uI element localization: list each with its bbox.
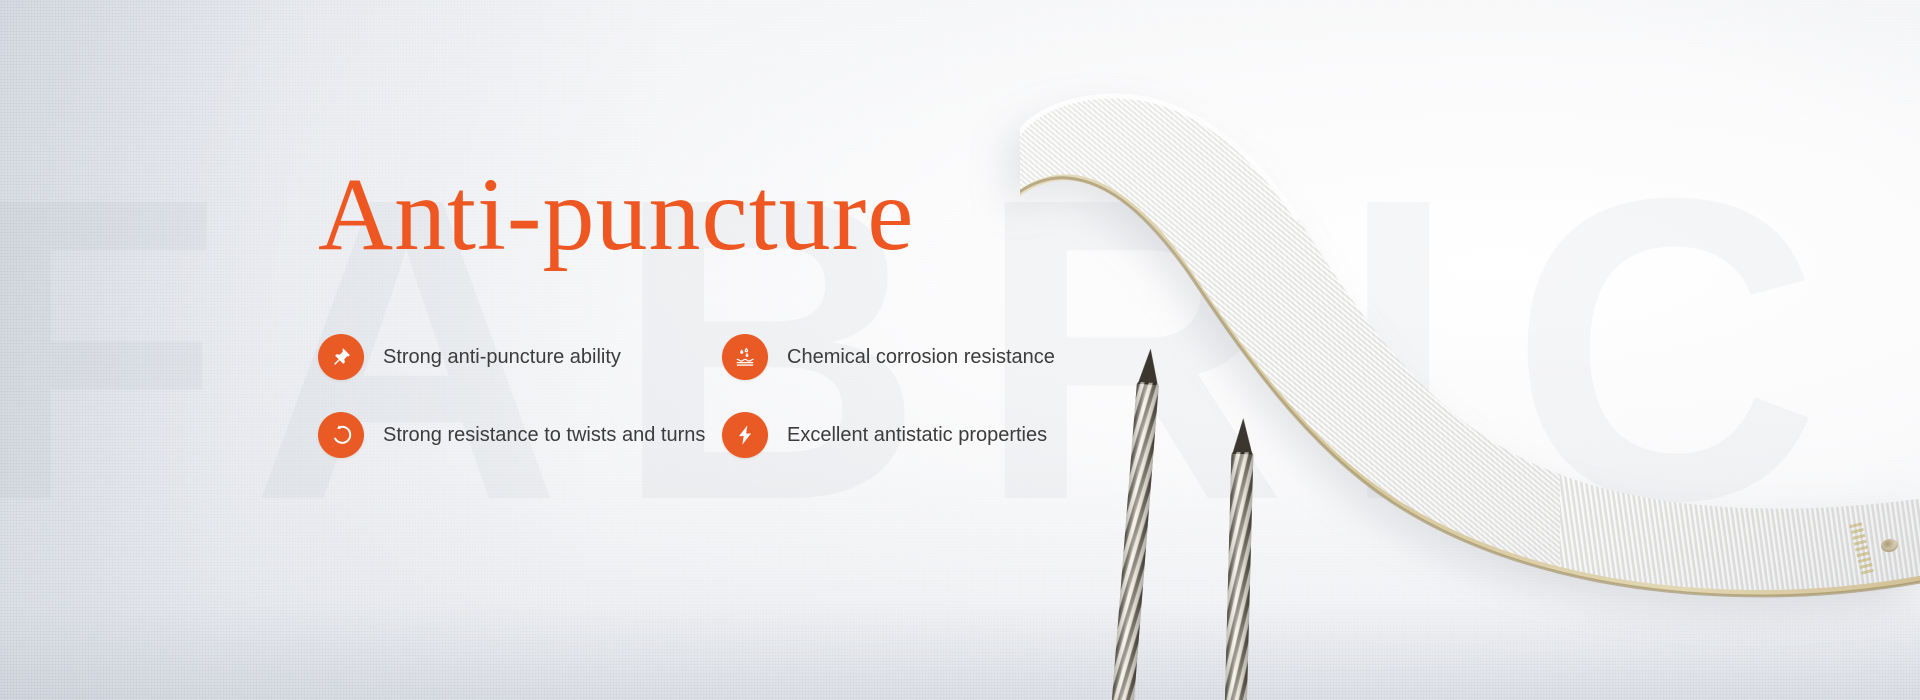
water-drop-surface-icon [722, 334, 768, 380]
feature-list: Strong anti-puncture ability [318, 334, 1148, 458]
page-title: Anti-puncture [318, 162, 1148, 268]
feature-item-chemical-corrosion[interactable]: Chemical corrosion resistance [722, 334, 1126, 380]
feature-label: Chemical corrosion resistance [787, 345, 1055, 370]
content-block: Anti-puncture Strong anti-puncture abili… [318, 162, 1148, 458]
feature-item-anti-puncture[interactable]: Strong anti-puncture ability [318, 334, 722, 380]
feature-label: Strong anti-puncture ability [383, 345, 621, 370]
feature-item-antistatic[interactable]: Excellent antistatic properties [722, 412, 1126, 458]
pushpin-icon [318, 334, 364, 380]
lightning-bolt-icon [722, 412, 768, 458]
feature-item-twist-resistance[interactable]: Strong resistance to twists and turns [318, 412, 722, 458]
feature-label: Excellent antistatic properties [787, 423, 1047, 448]
feature-label: Strong resistance to twists and turns [383, 423, 705, 448]
rotate-arrow-icon [318, 412, 364, 458]
anti-puncture-banner: FABRIC [0, 0, 1920, 700]
